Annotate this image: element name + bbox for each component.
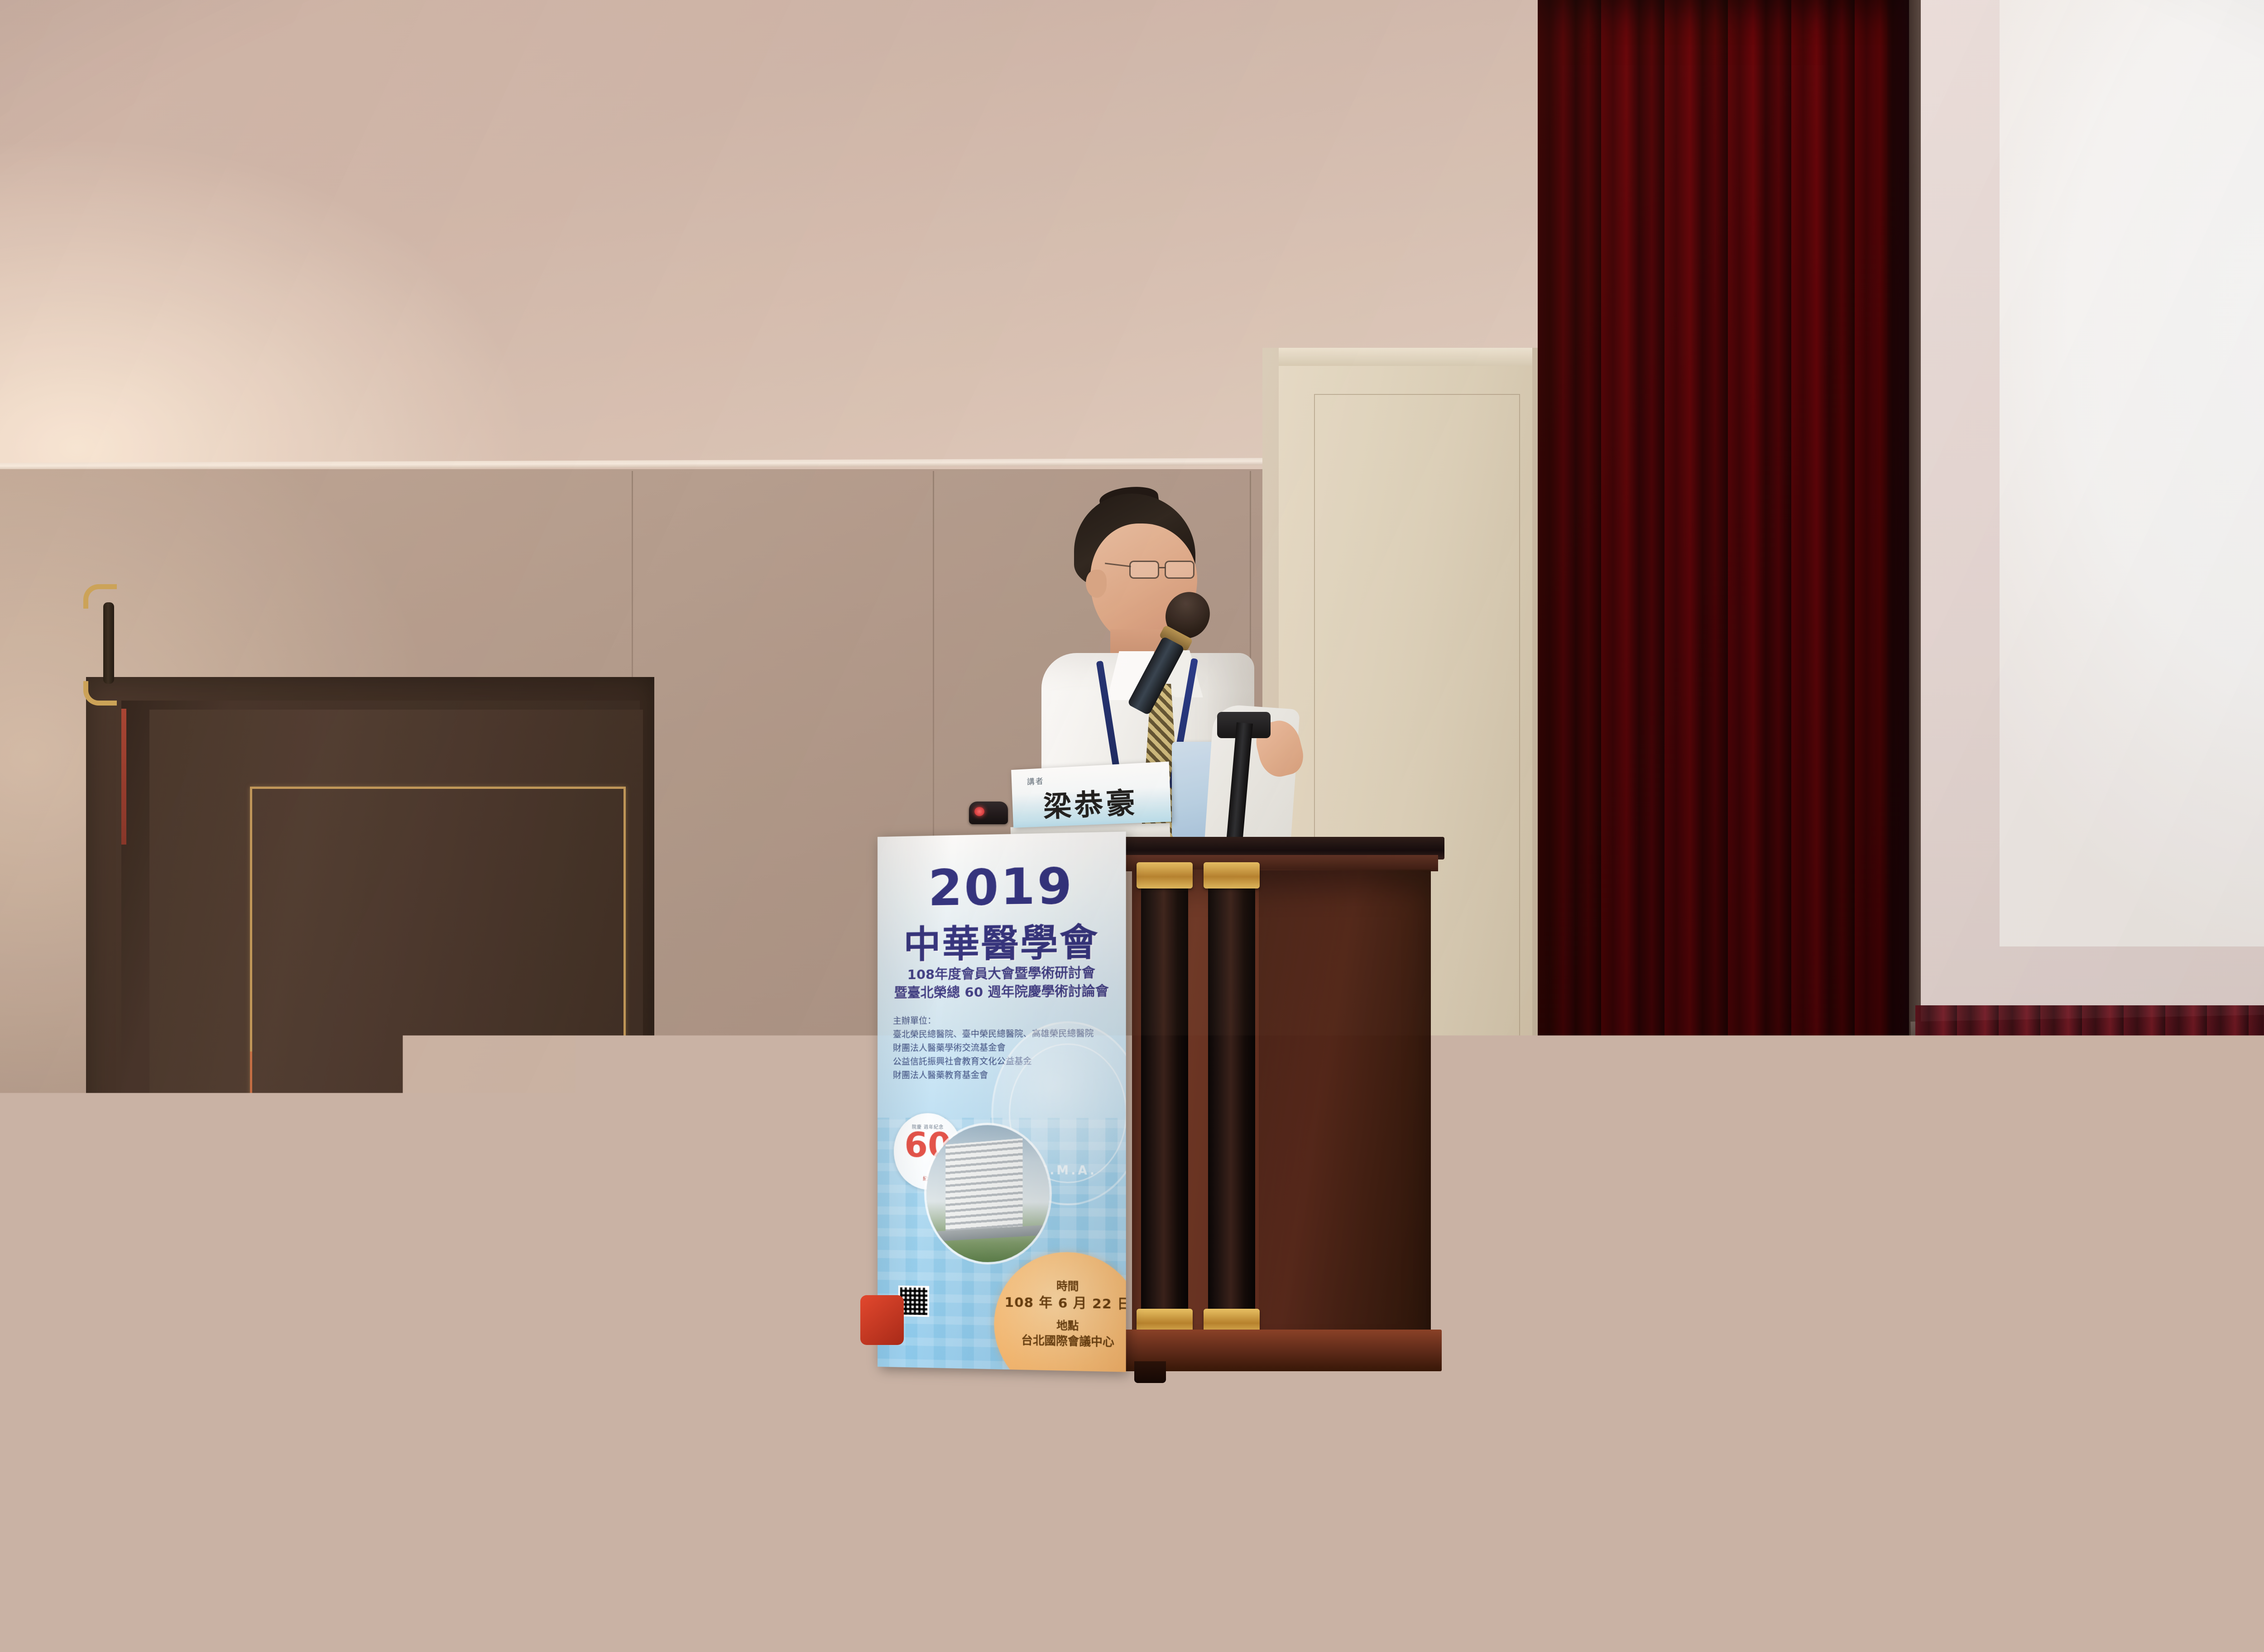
podium-column-right xyxy=(1208,867,1255,1342)
lectern-podium xyxy=(1132,837,1431,1376)
podium-column-capital xyxy=(1204,862,1260,888)
podium-plinth xyxy=(1122,1330,1442,1371)
bottle-label xyxy=(0,1452,32,1495)
banner-subtitle-line2: 暨臺北榮總 60 週年院慶學術討論會 xyxy=(878,980,1126,1002)
red-stage-object xyxy=(1109,1287,1134,1345)
nameplate-name: 梁恭豪 xyxy=(1012,778,1171,826)
speaker-ear xyxy=(1086,570,1107,598)
hospital-building xyxy=(945,1138,1022,1236)
podium-foot xyxy=(1134,1361,1166,1383)
door-red-accent-strip xyxy=(121,709,126,845)
projection-screen-frame-left xyxy=(1909,0,1921,1037)
event-banner: 2019 中華醫學會 108年度會員大會暨學術研討會 暨臺北榮總 60 週年院慶… xyxy=(878,831,1126,1372)
banner-year: 2019 xyxy=(878,856,1126,918)
time-value: 108 年 6 月 22 日 xyxy=(994,1292,1126,1313)
door-handle-icon[interactable] xyxy=(101,574,117,710)
podium-column-left xyxy=(1141,867,1188,1342)
bottle-cap xyxy=(0,1385,29,1403)
hospital-photo xyxy=(926,1125,1050,1263)
audience-head-left xyxy=(0,1503,177,1652)
glasses-lens-right xyxy=(1165,561,1194,579)
door-handle-bottom-hook xyxy=(83,681,117,706)
red-stage-object xyxy=(860,1295,904,1345)
stage-curtain xyxy=(1538,0,1936,1183)
podium-device[interactable] xyxy=(969,802,1008,824)
place-value: 台北國際會議中心 xyxy=(994,1331,1126,1350)
podium-column-capital xyxy=(1137,862,1193,888)
podium-front-panel xyxy=(1259,870,1431,1332)
eyeglasses-icon xyxy=(1129,561,1198,581)
led-indicator-icon xyxy=(974,807,984,816)
projection-screen-bright-area xyxy=(2000,0,2264,946)
audience-ear xyxy=(98,1612,127,1651)
far-door-header xyxy=(1279,348,1532,367)
glasses-lens-left xyxy=(1129,561,1159,579)
auditorium-photo: 講者 梁恭豪 2019 中華醫學會 108年度會員大會暨學術研討會 暨臺北榮總 … xyxy=(0,0,2264,1652)
speaker-nameplate: 講者 梁恭豪 xyxy=(1011,762,1171,828)
door-handle-grip xyxy=(103,602,114,684)
banner-title: 中華醫學會 xyxy=(878,911,1126,969)
